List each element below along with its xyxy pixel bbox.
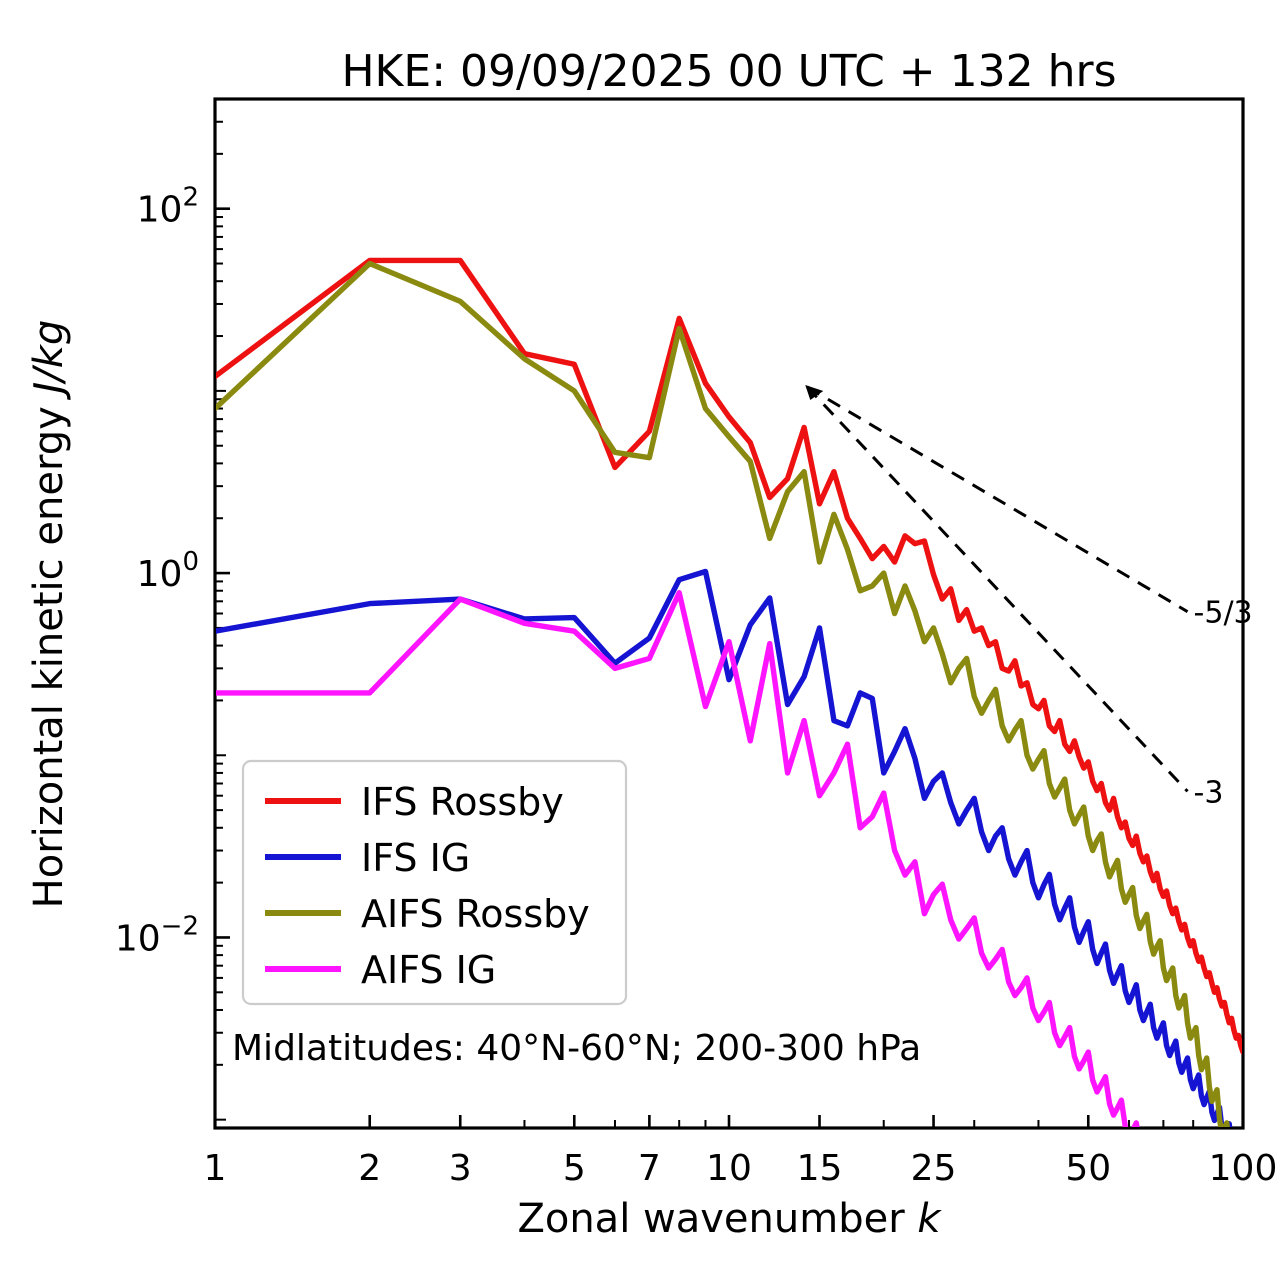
x-axis-title-symbol: k (917, 1196, 942, 1242)
figure-root: HKE: 09/09/2025 00 UTC + 132 hrs 1235710… (0, 0, 1280, 1288)
svg-text:Zonal wavenumber k: Zonal wavenumber k (517, 1196, 942, 1242)
legend-label-aifs-rossby[interactable]: AIFS Rossby (361, 892, 590, 936)
svg-text:Horizontal kinetic energy J/kg: Horizontal kinetic energy J/kg (26, 320, 72, 909)
x-axis-title: Zonal wavenumber k (517, 1196, 942, 1242)
x-tick-label: 7 (638, 1148, 661, 1189)
legend[interactable]: IFS RossbyIFS IGAIFS RossbyAIFS IG (243, 761, 626, 1004)
legend-label-ifs-ig[interactable]: IFS IG (361, 836, 470, 880)
x-tick-label: 15 (797, 1148, 843, 1189)
legend-label-ifs-rossby[interactable]: IFS Rossby (361, 780, 564, 824)
chart-title: HKE: 09/09/2025 00 UTC + 132 hrs (341, 46, 1116, 97)
legend-label-aifs-ig[interactable]: AIFS IG (361, 948, 496, 992)
x-tick-label: 3 (449, 1148, 472, 1189)
x-tick-label: 5 (563, 1148, 586, 1189)
y-axis-title-unit: J/kg (26, 320, 72, 401)
x-axis-ticks (215, 1115, 1243, 1128)
x-axis-title-text: Zonal wavenumber (517, 1196, 917, 1242)
y-axis-title: Horizontal kinetic energy J/kg (26, 320, 72, 909)
x-tick-label: 50 (1065, 1148, 1111, 1189)
y-axis-title-text: Horizontal kinetic energy (26, 394, 72, 909)
x-tick-label: 25 (911, 1148, 957, 1189)
slope-label--5-3: -5/3 (1194, 596, 1253, 631)
x-tick-label: 2 (358, 1148, 381, 1189)
slope-label--3: -3 (1194, 775, 1224, 810)
spectra-chart: HKE: 09/09/2025 00 UTC + 132 hrs 1235710… (0, 0, 1280, 1288)
region-annotation: Midlatitudes: 40°N-60°N; 200-300 hPa (232, 1028, 921, 1069)
x-tick-label: 1 (204, 1148, 227, 1189)
x-tick-label: 100 (1209, 1148, 1278, 1189)
x-tick-label: 10 (706, 1148, 752, 1189)
